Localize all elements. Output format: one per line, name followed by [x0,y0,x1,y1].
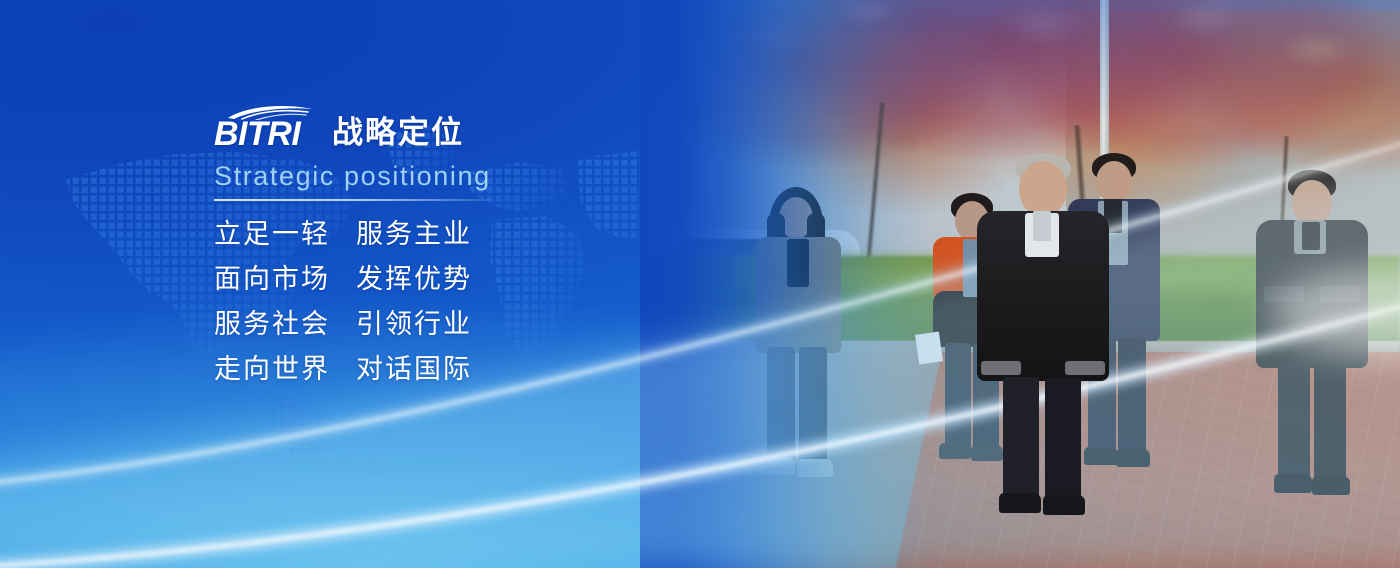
slogan-row: 服务社会 引领行业 [214,311,634,338]
slogan-left: 立足一轻 [214,221,330,248]
slogan-list: 立足一轻 服务主业 面向市场 发挥优势 服务社会 引领行业 走向世界 对话国际 [214,221,634,383]
slogan-left: 走向世界 [214,356,330,383]
slogan-row: 面向市场 发挥优势 [214,266,634,293]
person-man-black-jacket-front [967,153,1117,513]
slogan-row: 立足一轻 服务主业 [214,221,634,248]
bitri-wordmark: BITRI [214,117,300,151]
slogan-right: 发挥优势 [356,266,472,293]
photo-left-fade [640,0,930,568]
slogan-right: 服务主业 [356,221,472,248]
slogan-right: 对话国际 [356,356,472,383]
title-divider [214,199,490,201]
hero-photo [640,0,1400,568]
bitri-logo: BITRI [214,104,318,150]
banner-content: BITRI 战略定位 Strategic positioning 立足一轻 服务… [214,104,634,383]
page-title-cn: 战略定位 [332,117,464,150]
slogan-left: 面向市场 [214,266,330,293]
slogan-left: 服务社会 [214,311,330,338]
slogan-row: 走向世界 对话国际 [214,356,634,383]
hero-banner: BITRI 战略定位 Strategic positioning 立足一轻 服务… [0,0,1400,568]
brand-title-row: BITRI 战略定位 [214,104,634,150]
page-subtitle-en: Strategic positioning [214,163,634,190]
slogan-right: 引领行业 [356,311,472,338]
